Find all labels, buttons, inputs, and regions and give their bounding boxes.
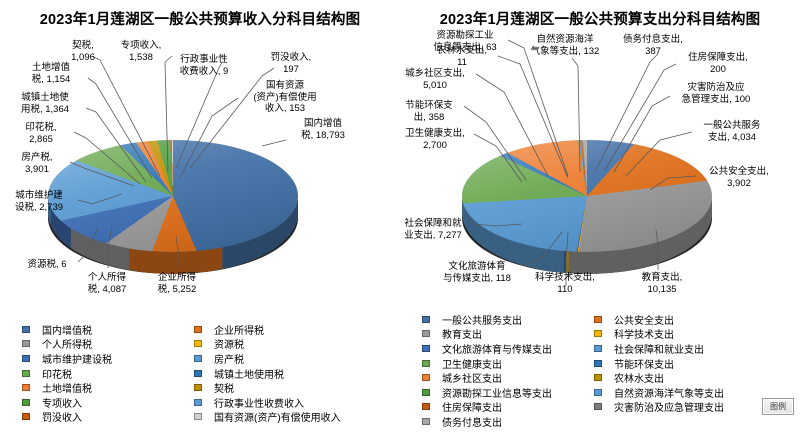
legend-item-label: 国有资源(资产)有偿使用收入: [214, 409, 341, 424]
legend-item-label: 节能环保支出: [614, 356, 674, 371]
label-expense-social-security: 社会保障和就 业支出, 7,277: [394, 218, 472, 241]
legend-item[interactable]: 社会保障和就业支出: [594, 341, 724, 356]
chart-panel-income: 2023年1月莲湖区一般公共预算收入分科目结构图 契税, 1,096 专项收入,…: [0, 0, 400, 437]
label-expense-public-security: 公共安全支出, 3,902: [698, 166, 780, 189]
label-income-urban-land-use: 城镇土地使 用税, 1,364: [8, 92, 82, 115]
legend-item-label: 公共安全支出: [614, 312, 674, 327]
legend-item-label: 专项收入: [42, 395, 82, 410]
legend-item[interactable]: 住房保障支出: [422, 400, 552, 415]
legend-item-label: 债务付息支出: [442, 414, 502, 429]
legend-swatch-icon: [422, 345, 430, 352]
legend-item[interactable]: 罚没收入: [22, 410, 112, 425]
legend-item[interactable]: 资源税: [194, 337, 341, 352]
legend-item-label: 卫生健康支出: [442, 356, 502, 371]
legend-column-2: 企业所得税资源税房产税城镇土地使用税契税行政事业性收费收入国有资源(资产)有偿使…: [194, 322, 341, 424]
legend-swatch-icon: [194, 384, 202, 391]
legend-swatch-icon: [22, 370, 30, 377]
legend-swatch-icon: [194, 370, 202, 377]
legend-item[interactable]: 行政事业性收费收入: [194, 395, 341, 410]
legend-item[interactable]: 农林水支出: [594, 370, 724, 385]
legend-swatch-icon: [594, 389, 602, 396]
legend-swatch-icon: [594, 403, 602, 410]
legend-income[interactable]: 国内增值税个人所得税城市维护建设税印花税土地增值税专项收入罚没收入企业所得税资源…: [22, 322, 398, 432]
label-income-corporate-income: 企业所得 税, 5,252: [148, 272, 206, 295]
legend-item[interactable]: 自然资源海洋气象等支出: [594, 385, 724, 400]
legend-item-label: 农林水支出: [614, 370, 664, 385]
label-expense-agriculture-water: 农林水支出, 11: [426, 45, 498, 68]
legend-item-label: 城市维护建设税: [42, 351, 112, 366]
legend-item-label: 教育支出: [442, 326, 482, 341]
label-income-state-resource-use: 国有资源 (资产)有偿使用 收入, 153: [240, 80, 330, 115]
legend-item-label: 契税: [214, 380, 234, 395]
legend-item-label: 个人所得税: [42, 336, 92, 351]
legend-swatch-icon: [422, 374, 430, 381]
legend-swatch-icon: [22, 340, 30, 347]
legend-item-label: 自然资源海洋气象等支出: [614, 385, 724, 400]
legend-item[interactable]: 契税: [194, 380, 341, 395]
label-expense-science-technology: 科学技术支出, 110: [528, 272, 602, 295]
label-expense-disaster-prevention: 灾害防治及应 急管理支出, 100: [668, 82, 764, 105]
legend-swatch-icon: [422, 403, 430, 410]
label-income-urban-maintenance: 城市维护建 设税, 2,739: [2, 190, 76, 213]
label-expense-general-public: 一般公共服务 支出, 4,034: [694, 120, 770, 143]
legend-swatch-icon: [594, 345, 602, 352]
label-expense-urban-rural: 城乡社区支出, 5,010: [394, 68, 476, 91]
label-expense-education: 教育支出, 10,135: [632, 272, 692, 295]
legend-item-label: 房产税: [214, 351, 244, 366]
legend-item-label: 资源勘探工业信息等支出: [442, 385, 552, 400]
legend-swatch-icon: [22, 384, 30, 391]
legend-item-label: 印花税: [42, 366, 72, 381]
legend-item-label: 城乡社区支出: [442, 370, 502, 385]
legend-swatch-icon: [194, 355, 202, 362]
chart-panel-expense: 2023年1月莲湖区一般公共预算支出分科目结构图 资源勘探工业 信息等支出, 6…: [400, 0, 800, 437]
legend-swatch-icon: [422, 389, 430, 396]
legend-swatch-icon: [22, 399, 30, 406]
report-page: 2023年1月莲湖区一般公共预算收入分科目结构图 契税, 1,096 专项收入,…: [0, 0, 800, 437]
legend-column-2: 公共安全支出科学技术支出社会保障和就业支出节能环保支出农林水支出自然资源海洋气象…: [594, 312, 724, 414]
label-income-special-revenue: 专项收入, 1,538: [110, 40, 172, 63]
label-income-stamp-tax: 印花税, 2,865: [12, 122, 70, 145]
legend-item[interactable]: 债务付息支出: [422, 414, 552, 429]
legend-item[interactable]: 一般公共服务支出: [422, 312, 552, 327]
label-income-penalty-revenue: 罚没收入, 197: [258, 52, 324, 75]
legend-item-label: 住房保障支出: [442, 399, 502, 414]
label-expense-health: 卫生健康支出, 2,700: [396, 128, 474, 151]
legend-swatch-icon: [194, 413, 202, 420]
label-income-resource-tax: 资源税, 6: [16, 259, 78, 271]
legend-column-1: 国内增值税个人所得税城市维护建设税印花税土地增值税专项收入罚没收入: [22, 322, 112, 424]
legend-expense[interactable]: 一般公共服务支出教育支出文化旅游体育与传媒支出卫生健康支出城乡社区支出资源勘探工…: [422, 312, 798, 434]
label-income-property-tax: 房产税, 3,901: [8, 152, 66, 175]
legend-item[interactable]: 科学技术支出: [594, 327, 724, 342]
legend-swatch-icon: [594, 330, 602, 337]
legend-item[interactable]: 卫生健康支出: [422, 356, 552, 371]
legend-item[interactable]: 城乡社区支出: [422, 370, 552, 385]
legend-swatch-icon: [22, 326, 30, 333]
label-income-admin-fee-revenue: 行政事业性 收费收入, 9: [166, 54, 242, 77]
label-expense-energy-environment: 节能环保支 出, 358: [396, 100, 462, 123]
legend-item-label: 罚没收入: [42, 409, 82, 424]
legend-item[interactable]: 教育支出: [422, 327, 552, 342]
legend-item-label: 文化旅游体育与传媒支出: [442, 341, 552, 356]
legend-item[interactable]: 资源勘探工业信息等支出: [422, 385, 552, 400]
legend-swatch-icon: [22, 413, 30, 420]
legend-swatch-icon: [194, 399, 202, 406]
legend-swatch-icon: [422, 330, 430, 337]
legend-item-label: 社会保障和就业支出: [614, 341, 704, 356]
legend-toggle-button[interactable]: 图例: [762, 398, 794, 415]
legend-item[interactable]: 国有资源(资产)有偿使用收入: [194, 410, 341, 425]
legend-swatch-icon: [422, 418, 430, 425]
legend-item-label: 土地增值税: [42, 380, 92, 395]
legend-item-label: 一般公共服务支出: [442, 312, 522, 327]
label-expense-culture-tourism: 文化旅游体育 与传媒支出, 118: [432, 261, 522, 284]
legend-item-label: 行政事业性收费收入: [214, 395, 304, 410]
legend-swatch-icon: [422, 360, 430, 367]
legend-item[interactable]: 节能环保支出: [594, 356, 724, 371]
legend-item-label: 资源税: [214, 336, 244, 351]
legend-item[interactable]: 专项收入: [22, 395, 112, 410]
legend-item[interactable]: 灾害防治及应急管理支出: [594, 400, 724, 415]
label-income-land-appreciation: 土地增值 税, 1,154: [18, 62, 84, 85]
legend-swatch-icon: [594, 360, 602, 367]
legend-item[interactable]: 土地增值税: [22, 380, 112, 395]
legend-swatch-icon: [194, 326, 202, 333]
legend-item[interactable]: 公共安全支出: [594, 312, 724, 327]
legend-item[interactable]: 国内增值税: [22, 322, 112, 337]
legend-item[interactable]: 企业所得税: [194, 322, 341, 337]
legend-item[interactable]: 文化旅游体育与传媒支出: [422, 341, 552, 356]
legend-swatch-icon: [594, 316, 602, 323]
legend-item-label: 企业所得税: [214, 322, 264, 337]
legend-swatch-icon: [594, 374, 602, 381]
legend-item[interactable]: 房产税: [194, 351, 341, 366]
legend-item-label: 城镇土地使用税: [214, 366, 284, 381]
legend-swatch-icon: [194, 340, 202, 347]
label-expense-housing-security: 住房保障支出, 200: [676, 52, 760, 75]
label-income-deed-tax: 契税, 1,096: [56, 40, 110, 63]
legend-item[interactable]: 城镇土地使用税: [194, 366, 341, 381]
legend-item-label: 灾害防治及应急管理支出: [614, 399, 724, 414]
legend-swatch-icon: [422, 316, 430, 323]
label-expense-natural-resources: 自然资源海洋 气象等支出, 132: [522, 34, 608, 57]
label-income-domestic-vat: 国内增值 税, 18,793: [288, 118, 358, 141]
legend-item[interactable]: 个人所得税: [22, 337, 112, 352]
label-income-individual-income: 个人所得 税, 4,087: [78, 272, 136, 295]
legend-swatch-icon: [22, 355, 30, 362]
legend-item-label: 国内增值税: [42, 322, 92, 337]
legend-item[interactable]: 城市维护建设税: [22, 351, 112, 366]
legend-column-1: 一般公共服务支出教育支出文化旅游体育与传媒支出卫生健康支出城乡社区支出资源勘探工…: [422, 312, 552, 429]
legend-item-label: 科学技术支出: [614, 326, 674, 341]
legend-item[interactable]: 印花税: [22, 366, 112, 381]
